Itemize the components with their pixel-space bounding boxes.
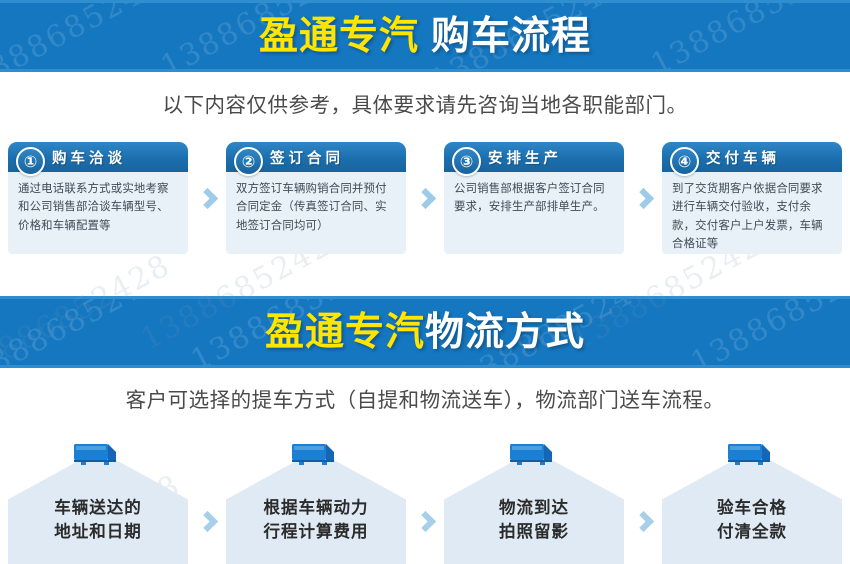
brand-name: 盈通专汽 [259,14,419,59]
logistics-arrow [624,438,662,564]
logistics-stage-shape: 物流到达 拍照留影 [444,460,624,564]
step-card: ① 购车洽谈 通过电话联系方式或实地考察和公司销售部洽谈车辆型号、价格和车辆配置… [8,142,188,254]
logistics-banner-title: 盈通专汽物流方式 [265,313,585,352]
step-card: ③ 安排生产 公司销售部根据客户签订合同要求，安排生产部排单生产。 [444,142,624,254]
truck-icon [724,441,780,467]
step-arrow [188,142,226,254]
step-title: 安排生产 [488,147,562,168]
banner-title-text: 购车流程 [431,14,591,59]
watermark-text: 13886852428 [685,299,850,365]
step-number-badge: ② [234,147,263,176]
logistics-stage-text: 根据车辆动力 行程计算费用 [264,480,369,544]
step-card: ④ 交付车辆 到了交货期客户依据合同要求进行车辆交付验收，支付余款，交付客户上户… [662,142,842,254]
watermark-text: 13886852428 [645,3,850,69]
purchase-banner-title: 盈通专汽购车流程 [259,17,591,56]
logistics-stage-line2: 行程计算费用 [264,520,369,544]
chevron-right-icon [414,510,435,531]
step-body-text: 公司销售部根据客户签订合同要求，安排生产部排单生产。 [444,172,624,216]
chevron-right-icon [196,187,217,208]
logistics-stage-line2: 付清全款 [717,520,787,544]
step-body-text: 双方签订车辆购销合同并预付合同定金（传真签订合同、实地签订合同均可） [226,172,406,234]
step-number-badge: ④ [670,147,699,176]
chevron-right-icon [632,510,653,531]
step-title: 交付车辆 [706,147,780,168]
watermark-text: 13886852428 [0,3,187,69]
logistics-stage-line1: 物流到达 [499,496,569,520]
truck-icon [70,441,126,467]
step-title: 购车洽谈 [52,147,126,168]
logistics-arrow [188,438,226,564]
step-arrow [406,142,444,254]
step-arrow [624,142,662,254]
purchase-steps-row: ① 购车洽谈 通过电话联系方式或实地考察和公司销售部洽谈车辆型号、价格和车辆配置… [8,142,842,254]
logistics-stage-text: 车辆送达的 地址和日期 [54,480,142,544]
logistics-stage: 车辆送达的 地址和日期 [8,438,188,564]
logistics-subtitle: 客户可选择的提车方式（自提和物流送车），物流部门送车流程。 [0,383,850,413]
logistics-stage-line1: 根据车辆动力 [264,496,369,520]
logistics-stage-text: 物流到达 拍照留影 [499,480,569,544]
logistics-stage-line2: 拍照留影 [499,520,569,544]
step-card: ② 签订合同 双方签订车辆购销合同并预付合同定金（传真签订合同、实地签订合同均可… [226,142,406,254]
logistics-stage-shape: 根据车辆动力 行程计算费用 [226,460,406,564]
logistics-stage-line1: 验车合格 [717,496,787,520]
chevron-right-icon [632,187,653,208]
chevron-right-icon [414,187,435,208]
step-number-badge: ③ [452,147,481,176]
step-body-text: 到了交货期客户依据合同要求进行车辆交付验收，支付余款，交付客户上户发票，车辆合格… [662,172,842,253]
logistics-stage: 验车合格 付清全款 [662,438,842,564]
logistics-stage-shape: 验车合格 付清全款 [662,460,842,564]
logistics-stage-shape: 车辆送达的 地址和日期 [8,460,188,564]
logistics-stage: 物流到达 拍照留影 [444,438,624,564]
watermark-text: 13886852428 [0,299,187,365]
purchase-subtitle: 以下内容仅供参考，具体要求请先咨询当地各职能部门。 [0,88,850,118]
logistics-stage: 根据车辆动力 行程计算费用 [226,438,406,564]
truck-icon [506,441,562,467]
chevron-right-icon [196,510,217,531]
logistics-stage-line2: 地址和日期 [54,520,142,544]
logistics-banner: 13886852428 13886852428 13886852428 1388… [0,296,850,368]
logistics-stage-line1: 车辆送达的 [54,496,142,520]
logistics-stages-row: 车辆送达的 地址和日期 根据车辆动力 行程计算费用 [8,438,842,564]
brand-name: 盈通专汽 [265,310,425,355]
logistics-stage-text: 验车合格 付清全款 [717,480,787,544]
banner-title-text: 物流方式 [425,310,585,355]
step-title: 签订合同 [270,147,344,168]
purchase-banner: 13886852428 13886852428 13886852428 1388… [0,0,850,72]
logistics-arrow [406,438,444,564]
promo-page: 13886852428 13886852428 13886852428 1388… [0,0,850,564]
step-body-text: 通过电话联系方式或实地考察和公司销售部洽谈车辆型号、价格和车辆配置等 [8,172,188,234]
step-number-badge: ① [16,147,45,176]
truck-icon [288,441,344,467]
